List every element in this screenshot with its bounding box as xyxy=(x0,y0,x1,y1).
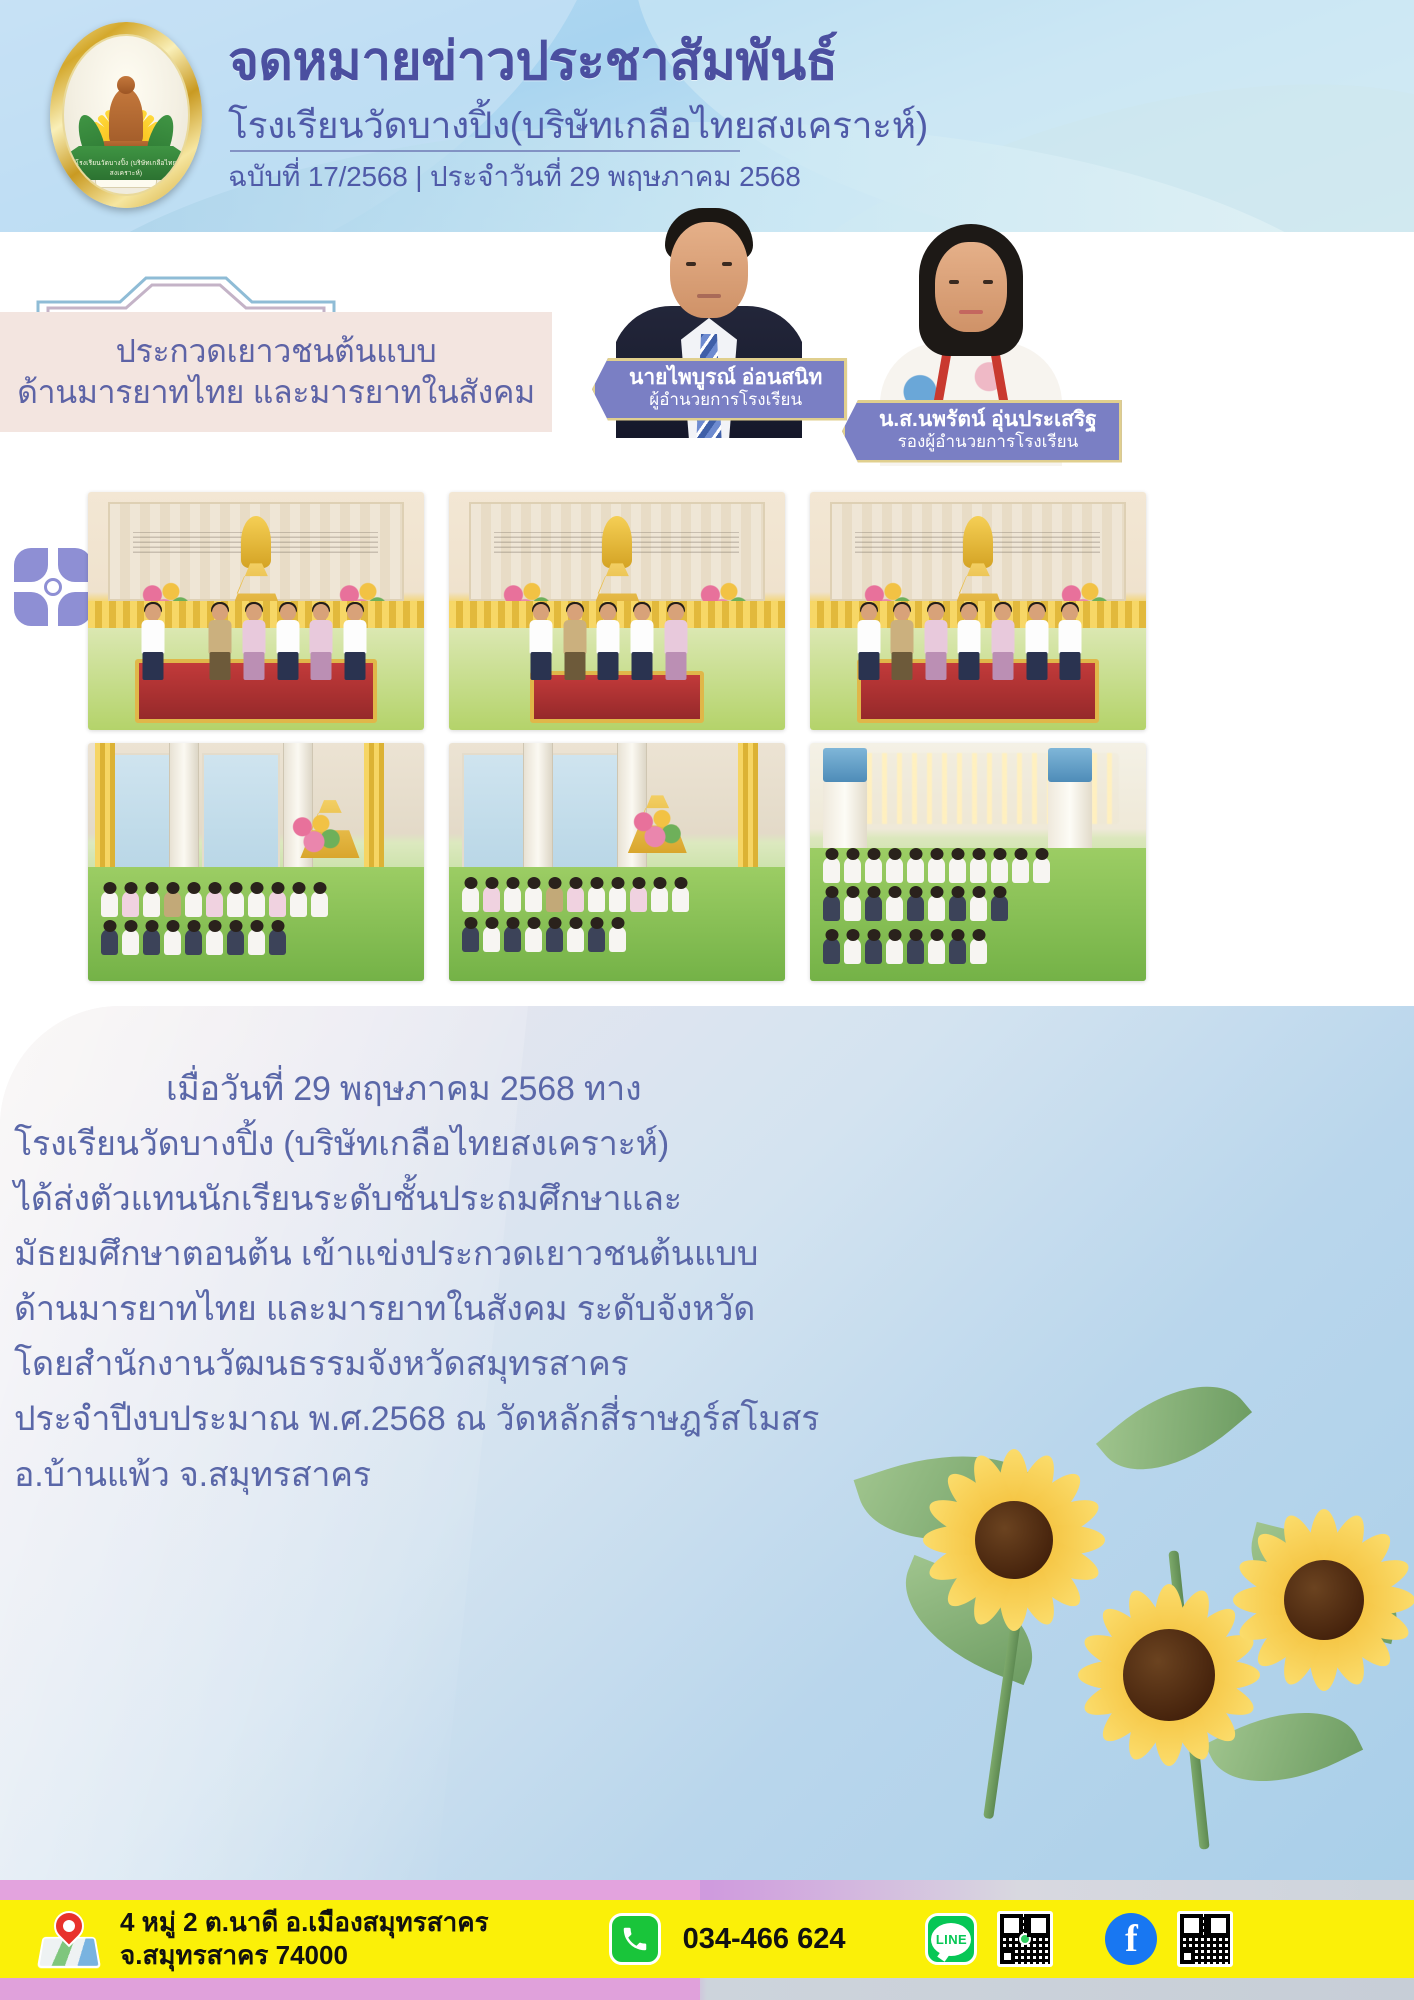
photo-4[interactable] xyxy=(88,743,424,981)
phone-icon xyxy=(609,1913,661,1965)
phone-number[interactable]: 034-466 624 xyxy=(683,1923,846,1956)
deputy-head xyxy=(935,242,1007,332)
facebook-icon[interactable]: f xyxy=(1105,1913,1157,1965)
student-figure xyxy=(310,604,333,682)
header-divider xyxy=(230,150,740,152)
deputy-role: รองผู้อำนวยการโรงเรียน xyxy=(879,432,1097,452)
student-figure xyxy=(958,604,981,682)
body-line-6: โดยสำนักงานวัฒนธรรมจังหวัดสมุทรสาคร xyxy=(14,1337,894,1392)
director-mouth xyxy=(697,294,721,298)
footer-top-stripe xyxy=(0,1880,1414,1902)
photo-row-top xyxy=(88,492,1148,730)
student-figure xyxy=(630,604,653,682)
student-figure xyxy=(243,604,266,682)
line-label: LINE xyxy=(936,1932,967,1947)
student-figure xyxy=(991,604,1014,682)
body-line-5: ด้านมารยาทไทย และมารยาทในสังคม ระดับจังห… xyxy=(14,1282,894,1337)
line-icon[interactable]: LINE xyxy=(925,1913,977,1965)
page-title: จดหมายข่าวประชาสัมพันธ์ xyxy=(228,34,838,90)
director-role: ผู้อำนวยการโรงเรียน xyxy=(629,390,822,410)
headline-arch-ornament xyxy=(36,272,336,314)
photo-2[interactable] xyxy=(449,492,785,730)
photo-row-bottom xyxy=(88,743,1148,981)
address-line-1: 4 หมู่ 2 ต.นาดี อ.เมืองสมุทรสาคร xyxy=(120,1906,489,1939)
decor-flower-left-icon xyxy=(14,548,92,626)
student-figure xyxy=(563,604,586,682)
school-name: โรงเรียนวัดบางปิ้ง(บริษัทเกลือไทยสงเคราะ… xyxy=(228,96,928,155)
student-figure xyxy=(664,604,687,682)
headline-box: ประกวดเยาวชนต้นแบบ ด้านมารยาทไทย และมารย… xyxy=(0,312,552,432)
buddha-icon xyxy=(109,88,143,150)
body-paragraph: เมื่อวันที่ 29 พฤษภาคม 2568 ทาง โรงเรียน… xyxy=(14,1062,894,1503)
student-figure xyxy=(857,604,880,682)
director-eye-right xyxy=(722,262,732,266)
footer-bottom-stripe xyxy=(0,1978,1414,2000)
student-figure xyxy=(530,604,553,682)
student-figure xyxy=(597,604,620,682)
newsletter-page: โรงเรียนวัดบางปิ้ง (บริษัทเกลือไทยสงเครา… xyxy=(0,0,1414,2000)
photo-3[interactable] xyxy=(810,492,1146,730)
student-figure xyxy=(1025,604,1048,682)
deputy-mouth xyxy=(959,310,983,314)
address-block: 4 หมู่ 2 ต.นาดี อ.เมืองสมุทรสาคร จ.สมุทร… xyxy=(120,1906,489,1973)
deputy-eye-left xyxy=(949,280,959,284)
photo-1[interactable] xyxy=(88,492,424,730)
headline-line-1: ประกวดเยาวชนต้นแบบ xyxy=(116,331,437,372)
student-figure xyxy=(276,604,299,682)
deputy-name: น.ส.นพรัตน์ อุ่นประเสริฐ xyxy=(879,408,1097,432)
sunflower-decoration xyxy=(854,1330,1414,1890)
body-line-7: ประจำปีงบประมาณ พ.ศ.2568 ณ วัดหลักสี่ราษ… xyxy=(14,1392,894,1447)
student-figure xyxy=(924,604,947,682)
footer-contact-bar: 4 หมู่ 2 ต.นาดี อ.เมืองสมุทรสาคร จ.สมุทร… xyxy=(0,1900,1414,1978)
deputy-eye-right xyxy=(983,280,993,284)
issue-line: ฉบับที่ 17/2568 | ประจำวันที่ 29 พฤษภาคม… xyxy=(228,155,801,199)
body-line-2: โรงเรียนวัดบางปิ้ง (บริษัทเกลือไทยสงเครา… xyxy=(14,1117,894,1172)
director-name-plaque: นายไพบูรณ์ อ่อนสนิท ผู้อำนวยการโรงเรียน xyxy=(592,358,847,421)
photo-6[interactable] xyxy=(810,743,1146,981)
student-figure xyxy=(1059,604,1082,682)
map-pin-icon xyxy=(40,1911,98,1967)
sunflower-3-icon xyxy=(1224,1500,1414,1700)
school-logo-inner: โรงเรียนวัดบางปิ้ง (บริษัทเกลือไทยสงเครา… xyxy=(62,34,190,196)
address-line-2: จ.สมุทรสาคร 74000 xyxy=(120,1939,489,1972)
logo-banner-text: โรงเรียนวัดบางปิ้ง (บริษัทเกลือไทยสงเครา… xyxy=(64,158,188,178)
photo-5[interactable] xyxy=(449,743,785,981)
body-line-3: ได้ส่งตัวแทนนักเรียนระดับชั้นประถมศึกษาแ… xyxy=(14,1172,894,1227)
director-name: นายไพบูรณ์ อ่อนสนิท xyxy=(629,366,822,390)
deputy-name-plaque: น.ส.นพรัตน์ อุ่นประเสริฐ รองผู้อำนวยการโ… xyxy=(842,400,1122,463)
body-line-4: มัธยมศึกษาตอนต้น เข้าแข่งประกวดเยาวชนต้น… xyxy=(14,1227,894,1282)
school-logo: โรงเรียนวัดบางปิ้ง (บริษัทเกลือไทยสงเครา… xyxy=(50,22,202,208)
student-figure xyxy=(209,604,232,682)
body-line-8: อ.บ้านแพ้ว จ.สมุทรสาคร xyxy=(14,1448,894,1503)
body-line-1: เมื่อวันที่ 29 พฤษภาคม 2568 ทาง xyxy=(14,1062,894,1117)
headline-line-2: ด้านมารยาทไทย และมารยาทในสังคม xyxy=(17,372,535,413)
director-eye-left xyxy=(686,262,696,266)
facebook-qr-code xyxy=(1177,1911,1233,1967)
line-qr-code xyxy=(997,1911,1053,1967)
facebook-label: f xyxy=(1125,1917,1138,1961)
student-figure xyxy=(343,604,366,682)
student-figure xyxy=(891,604,914,682)
body-section: เมื่อวันที่ 29 พฤษภาคม 2568 ทาง โรงเรียน… xyxy=(0,1006,1414,1890)
director-head xyxy=(670,222,748,318)
photo-grid xyxy=(88,492,1148,994)
student-figure xyxy=(142,604,165,682)
